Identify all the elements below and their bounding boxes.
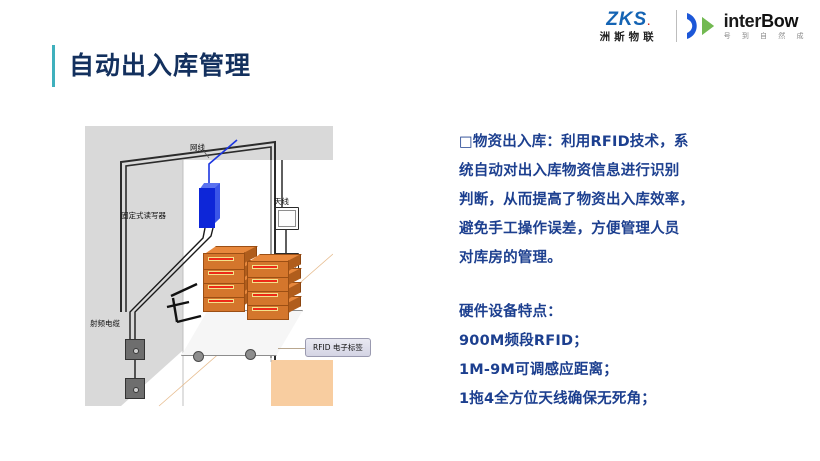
interbow-chinese-tagline: 号 到 自 然 成	[724, 33, 808, 40]
logo-divider	[676, 10, 677, 42]
content-text-block: □物资出入库：利用RFID技术，系 统自动对出入库物资信息进行识别 判断，从而提…	[459, 128, 721, 414]
interbow-word-a: inter	[724, 11, 762, 31]
paragraph-line: 判断，从而提高了物资出入库效率，	[459, 186, 721, 215]
interbow-wordmark: interBow	[724, 12, 808, 30]
zks-dot: .	[647, 17, 651, 28]
zks-wordmark: ZKS.	[606, 10, 651, 29]
antenna-gray-upper	[125, 339, 145, 360]
reader-front-face	[199, 188, 215, 228]
spec-line: 1拖4全方位天线确保无死角；	[459, 385, 721, 414]
interbow-bow-arrow-icon	[685, 11, 719, 41]
label-network-cable: 网线	[190, 142, 205, 153]
spec-heading: 硬件设备特点：	[459, 298, 721, 327]
page-title-container: 自动出入库管理	[52, 45, 251, 87]
antenna-panel-upper	[275, 207, 299, 230]
carton-stack	[203, 244, 307, 328]
slide-root: ZKS. 洲斯物联 interBow 号 到 自 然 成 自动出入库管理	[0, 0, 820, 461]
interbow-text: interBow 号 到 自 然 成	[724, 12, 808, 40]
page-title: 自动出入库管理	[69, 45, 251, 87]
label-antenna: 天线	[274, 196, 289, 207]
zks-logo: ZKS. 洲斯物联	[590, 10, 668, 43]
interbow-word-b: Bow	[761, 11, 798, 31]
reader-side-face	[215, 183, 220, 223]
title-accent-bar	[52, 45, 55, 87]
rfid-callout-leader-line	[278, 348, 306, 349]
header-logo-group: ZKS. 洲斯物联 interBow 号 到 自 然 成	[590, 6, 812, 46]
spec-line: 900M频段RFID；	[459, 327, 721, 356]
paragraph-line: □物资出入库：利用RFID技术，系	[459, 128, 721, 157]
rfid-tag-callout: RFID 电子标签	[305, 338, 371, 357]
zks-chinese-name: 洲斯物联	[600, 32, 658, 43]
warehouse-diagram: 网线 固定式读写器 天线 射频电缆	[85, 126, 333, 424]
cart-wheel	[193, 351, 204, 362]
paragraph-line: 避免手工操作误差，方便管理人员	[459, 215, 721, 244]
fixed-reader-device	[199, 183, 219, 228]
zks-wordmark-text: ZKS	[606, 9, 647, 30]
paragraph-materials-inout: □物资出入库：利用RFID技术，系 统自动对出入库物资信息进行识别 判断，从而提…	[459, 128, 721, 273]
antenna-gray-lower	[125, 378, 145, 399]
label-rf-cable: 射频电缆	[90, 318, 120, 329]
antenna-connector-icon	[133, 387, 139, 393]
paragraph-line: 统自动对出入库物资信息进行识别	[459, 157, 721, 186]
cart-wheel	[245, 349, 256, 360]
paragraph-line: 对库房的管理。	[459, 244, 721, 273]
hardware-specs-list: 硬件设备特点： 900M频段RFID； 1M-9M可调感应距离； 1拖4全方位天…	[459, 298, 721, 414]
interbow-logo: interBow 号 到 自 然 成	[685, 11, 812, 41]
label-fixed-reader: 固定式读写器	[121, 210, 166, 221]
antenna-connector-icon	[133, 348, 139, 354]
spec-line: 1M-9M可调感应距离；	[459, 356, 721, 385]
